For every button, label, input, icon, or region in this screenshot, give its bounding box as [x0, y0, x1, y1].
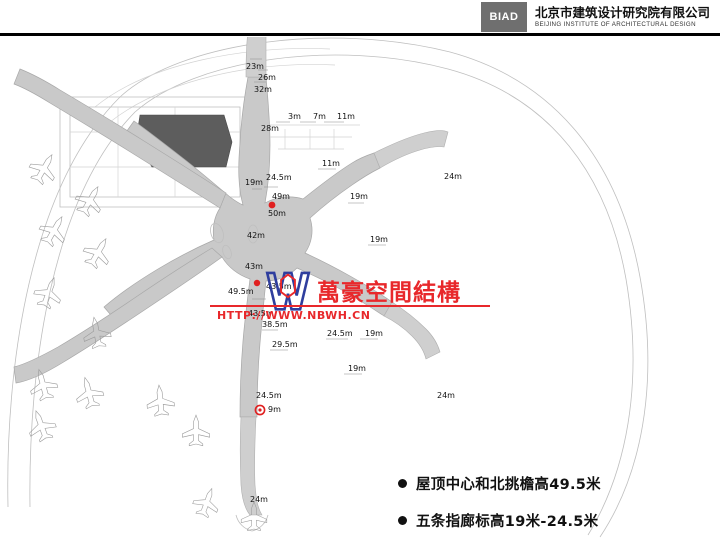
dimension-label: 24m: [250, 495, 268, 504]
dimension-label: 24m: [444, 172, 462, 181]
roof-center-marker: [254, 280, 260, 286]
dimension-label: 49.5m: [228, 287, 254, 296]
dimension-label: 24.5m: [327, 329, 353, 338]
dimension-label: 32m: [254, 85, 272, 94]
dimension-label: 50m: [268, 209, 286, 218]
dimension-label: 19m: [350, 192, 368, 201]
dimension-label: 19m: [370, 235, 388, 244]
list-item: 五条指廊标高19米-24.5米: [398, 510, 698, 531]
dimension-label: 43.5m: [266, 282, 292, 291]
dimension-label: 26m: [258, 73, 276, 82]
airport-roof-plan: .thin { fill:none; stroke:#bfbfbf; strok…: [0, 37, 720, 540]
company-branding: BIAD 北京市建筑设计研究院有限公司 BEIJING INSTITUTE OF…: [481, 0, 720, 34]
dimension-label: 29.5m: [272, 340, 298, 349]
caption-list: 屋顶中心和北挑檐高49.5米 五条指廊标高19米-24.5米: [398, 473, 698, 547]
dimension-label: 43m: [245, 262, 263, 271]
caption-text: 屋顶中心和北挑檐高49.5米: [416, 473, 601, 494]
header-divider: [0, 33, 720, 36]
dimension-label: 11m: [322, 159, 340, 168]
dimension-label: 24m: [437, 391, 455, 400]
dimension-label: 19m: [348, 364, 366, 373]
biad-logo: BIAD: [481, 2, 527, 32]
dimension-label: 9m: [268, 405, 281, 414]
dimension-label: 43.5m: [248, 309, 274, 318]
dimension-label: 24.5m: [256, 391, 282, 400]
bullet-dot-icon: [398, 479, 407, 488]
page-header: BIAD 北京市建筑设计研究院有限公司 BEIJING INSTITUTE OF…: [0, 0, 720, 34]
dimension-label: 38.5m: [262, 320, 288, 329]
dimension-label: 3m: [288, 112, 301, 121]
company-name-en: BEIJING INSTITUTE OF ARCHITECTURAL DESIG…: [535, 21, 710, 29]
dimension-label: 11m: [337, 112, 355, 121]
caption-text: 五条指廊标高19米-24.5米: [416, 510, 598, 531]
list-item: 屋顶中心和北挑檐高49.5米: [398, 473, 698, 494]
dimension-label: 23m: [246, 62, 264, 71]
dimension-label: 7m: [313, 112, 326, 121]
dimension-label: 19m: [365, 329, 383, 338]
company-name-cn: 北京市建筑设计研究院有限公司: [535, 5, 710, 21]
dimension-label: 49m: [272, 192, 290, 201]
bullet-dot-icon: [398, 516, 407, 525]
dimension-label: 42m: [247, 231, 265, 240]
plan-vector-graphic: .thin { fill:none; stroke:#bfbfbf; strok…: [0, 37, 720, 540]
dimension-label: 24.5m: [266, 173, 292, 182]
roof-peak-marker: [269, 202, 276, 209]
company-name-block: 北京市建筑设计研究院有限公司 BEIJING INSTITUTE OF ARCH…: [535, 5, 710, 28]
dimension-label: 19m: [245, 178, 263, 187]
dimension-label: 28m: [261, 124, 279, 133]
